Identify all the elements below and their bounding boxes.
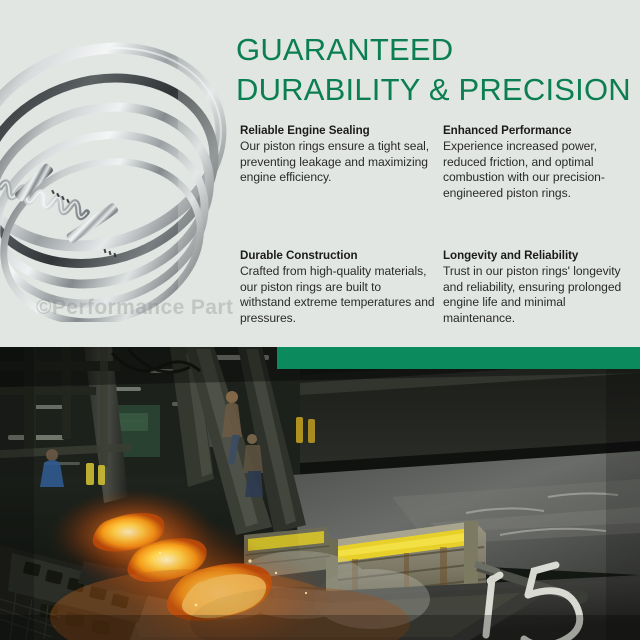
feature-enhanced-performance: Enhanced Performance Experience increase… [443,123,640,248]
feature-body: Trust in our piston rings' longevity and… [443,264,632,326]
feature-body: Our piston rings ensure a tight seal, pr… [240,139,435,186]
headline-line-1: GUARANTEED [236,30,632,70]
feature-title: Reliable Engine Sealing [240,123,435,138]
feature-reliable-engine-sealing: Reliable Engine Sealing Our piston rings… [240,123,443,248]
accent-bar [277,347,640,369]
feature-longevity-and-reliability: Longevity and Reliability Trust in our p… [443,248,640,326]
feature-body: Experience increased power, reduced fric… [443,139,632,201]
feature-title: Enhanced Performance [443,123,632,138]
top-content-section: GUARANTEED DURABILITY & PRECISION Reliab… [0,0,640,347]
feature-durable-construction: Durable Construction Crafted from high-q… [240,248,443,326]
feature-title: Durable Construction [240,248,435,263]
promo-graphic: GUARANTEED DURABILITY & PRECISION Reliab… [0,0,640,640]
feature-body: Crafted from high-quality materials, our… [240,264,435,326]
headline-line-2: DURABILITY & PRECISION [236,70,632,110]
feature-title: Longevity and Reliability [443,248,632,263]
feature-grid: Reliable Engine Sealing Our piston rings… [240,123,640,326]
headline: GUARANTEED DURABILITY & PRECISION [236,30,632,110]
factory-photo [0,347,640,640]
piston-rings-image [0,6,238,322]
